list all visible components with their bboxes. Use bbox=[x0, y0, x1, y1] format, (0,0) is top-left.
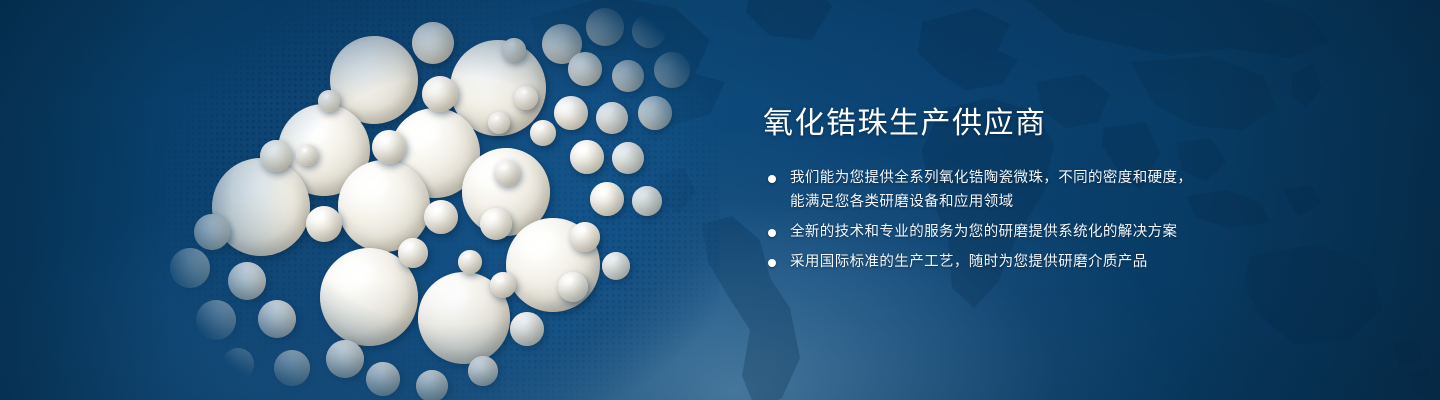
list-item-line: 采用国际标准的生产工艺，随时为您提供研磨介质产品 bbox=[790, 250, 1323, 274]
list-item-line: 我们能为您提供全系列氧化锆陶瓷微珠，不同的密度和硬度， bbox=[790, 166, 1323, 190]
bullet-dot-icon bbox=[768, 175, 776, 183]
feature-list: 我们能为您提供全系列氧化锆陶瓷微珠，不同的密度和硬度， 能满足您各类研磨设备和应… bbox=[763, 166, 1323, 274]
page-title: 氧化锆珠生产供应商 bbox=[763, 104, 1323, 144]
bullet-dot-icon bbox=[768, 229, 776, 237]
list-item: 全新的技术和专业的服务为您的研磨提供系统化的解决方案 bbox=[763, 220, 1323, 244]
hero-banner: 氧化锆珠生产供应商 我们能为您提供全系列氧化锆陶瓷微珠，不同的密度和硬度， 能满… bbox=[0, 0, 1440, 400]
banner-copy: 氧化锆珠生产供应商 我们能为您提供全系列氧化锆陶瓷微珠，不同的密度和硬度， 能满… bbox=[763, 104, 1323, 274]
list-item: 采用国际标准的生产工艺，随时为您提供研磨介质产品 bbox=[763, 250, 1323, 274]
bullet-dot-icon bbox=[768, 259, 776, 267]
list-item-line: 全新的技术和专业的服务为您的研磨提供系统化的解决方案 bbox=[790, 220, 1323, 244]
list-item-line: 能满足您各类研磨设备和应用领域 bbox=[790, 190, 1323, 214]
list-item: 我们能为您提供全系列氧化锆陶瓷微珠，不同的密度和硬度， 能满足您各类研磨设备和应… bbox=[763, 166, 1323, 214]
